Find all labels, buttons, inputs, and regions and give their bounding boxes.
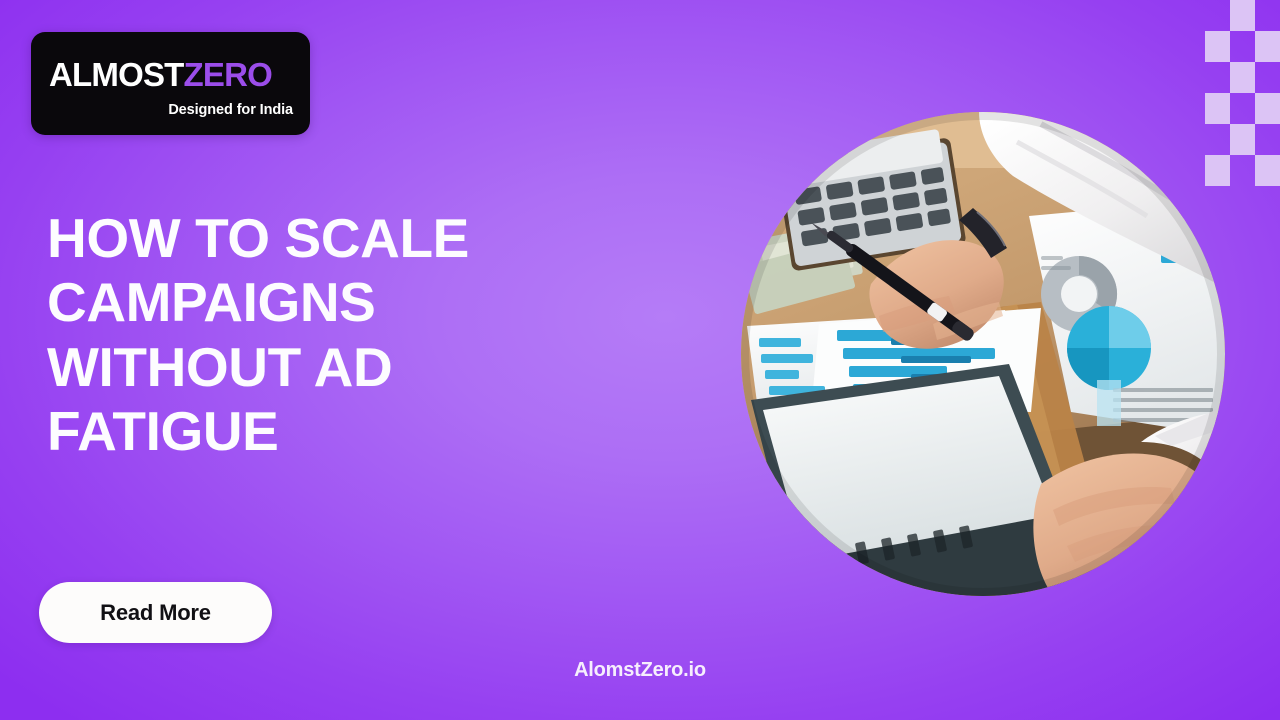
checker-square: [1205, 31, 1230, 62]
hero-photo: [741, 112, 1225, 596]
brand-logo[interactable]: ALMOSTZERO Designed for India: [31, 32, 310, 135]
checker-square: [1255, 124, 1280, 155]
checker-square: [1230, 124, 1255, 155]
checker-square: [1230, 62, 1255, 93]
read-more-button[interactable]: Read More: [39, 582, 272, 643]
checker-square: [1255, 0, 1280, 31]
checker-square: [1205, 62, 1230, 93]
checker-square: [1205, 93, 1230, 124]
checker-square: [1230, 155, 1255, 186]
checker-square: [1255, 93, 1280, 124]
checkerboard-pattern-icon: [1205, 0, 1280, 186]
hero-photo-illustration: [741, 112, 1225, 596]
checker-square: [1205, 0, 1230, 31]
footer-website-url[interactable]: AlomstZero.io: [0, 659, 1280, 682]
logo-word-almost: ALMOST: [49, 56, 184, 93]
read-more-label: Read More: [100, 600, 211, 626]
checker-square: [1255, 62, 1280, 93]
social-media-banner: ALMOSTZERO Designed for India How to Sca…: [0, 0, 1280, 720]
checker-square: [1205, 155, 1230, 186]
checker-square: [1205, 124, 1230, 155]
checker-square: [1230, 0, 1255, 31]
headline-title: How to Scale Campaigns Without Ad Fatigu…: [47, 206, 637, 463]
logo-wordmark: ALMOSTZERO: [49, 58, 272, 91]
checker-square: [1255, 155, 1280, 186]
logo-word-zero: ZERO: [184, 56, 272, 93]
logo-tagline: Designed for India: [168, 102, 293, 118]
checker-square: [1230, 31, 1255, 62]
checker-square: [1255, 31, 1280, 62]
checker-square: [1230, 93, 1255, 124]
